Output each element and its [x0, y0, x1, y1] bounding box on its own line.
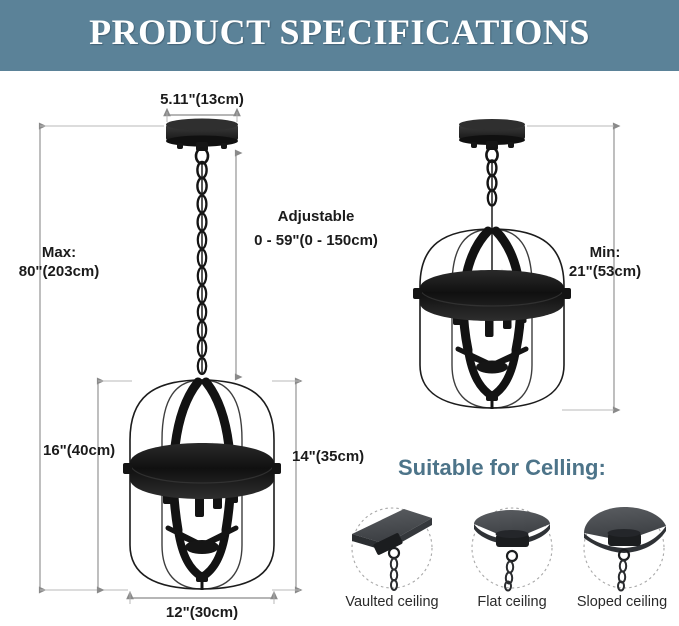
vaulted-ceiling-icon: [352, 508, 432, 590]
ring-band-left: [123, 443, 281, 499]
sloped-ceiling-icon: [584, 507, 666, 591]
inner-arch-right: [463, 231, 520, 396]
chain-right: [486, 148, 497, 300]
label-adjustable-line2: 0 - 59"(0 - 150cm): [226, 231, 406, 250]
dimension-max-height: [40, 126, 164, 590]
label-min-height-line1: Min:: [546, 243, 664, 262]
flat-ceiling-icon: [472, 508, 552, 591]
dimension-cage-height: [272, 381, 300, 590]
label-adjustable-line1: Adjustable: [236, 207, 396, 226]
label-cage-height: 14"(35cm): [292, 447, 364, 466]
cage-right: [420, 229, 564, 408]
label-fixture-height: 16"(40cm): [43, 441, 115, 460]
page-title: PRODUCT SPECIFICATIONS: [0, 11, 679, 53]
inner-arch-left: [173, 382, 230, 577]
canopy-right: [459, 119, 525, 150]
dimension-lines: [40, 112, 614, 604]
label-canopy-width: 5.11"(13cm): [127, 90, 277, 109]
finial-left: [196, 574, 208, 582]
cage-left: [130, 380, 274, 589]
label-flat-ceiling: Flat ceiling: [460, 594, 564, 610]
canopy-left: [166, 119, 238, 152]
product-illustration: [0, 0, 679, 626]
dimension-fixture-height: [98, 381, 132, 590]
label-sloped-ceiling: Sloped ceiling: [565, 594, 679, 610]
dimension-canopy-width: [167, 112, 237, 122]
label-max-height-line1: Max:: [0, 243, 118, 262]
chain-left: [196, 149, 208, 376]
lamp-cluster-right: [453, 268, 527, 374]
label-max-height-line2: 80"(203cm): [0, 262, 118, 281]
product-specifications-page: PRODUCT SPECIFICATIONS: [0, 0, 679, 626]
chandelier-extended-figure: [123, 119, 281, 591]
label-min-height-line2: 21"(53cm): [546, 262, 664, 281]
label-fixture-width: 12"(30cm): [128, 603, 276, 622]
ceiling-icons: [352, 507, 666, 591]
lamp-cluster-left: [163, 442, 238, 554]
label-vaulted-ceiling: Vaulted ceiling: [332, 594, 452, 610]
suitable-for-ceiling-heading: Suitable for Celling:: [398, 455, 606, 481]
